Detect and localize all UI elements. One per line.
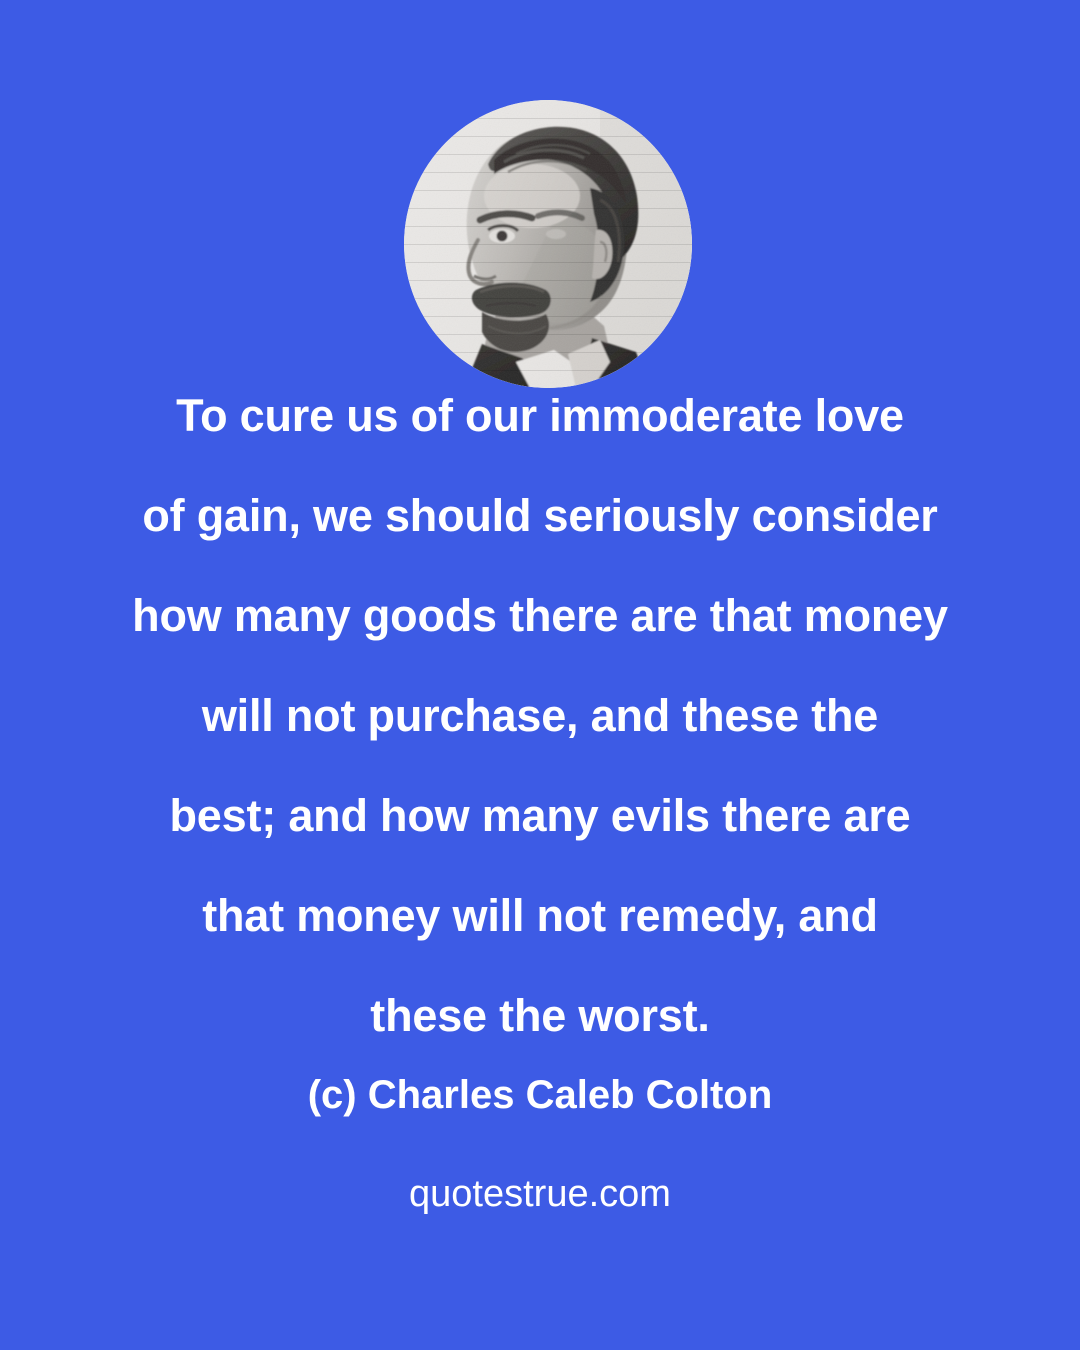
quote-card: To cure us of our immoderate love of gai…: [0, 0, 1080, 1350]
quote-line: that money will not remedy, and: [90, 866, 990, 966]
quote-line: of gain, we should seriously consider: [90, 466, 990, 566]
quote-line: To cure us of our immoderate love: [90, 366, 990, 466]
portrait-photo-icon: [404, 100, 692, 388]
quote-line: these the worst.: [90, 966, 990, 1066]
quote-line: best; and how many evils there are: [90, 766, 990, 866]
quote-line: will not purchase, and these the: [90, 666, 990, 766]
quote-attribution: (c) Charles Caleb Colton: [0, 1068, 1080, 1122]
site-watermark: quotestrue.com: [0, 1168, 1080, 1220]
quote-line: how many goods there are that money: [90, 566, 990, 666]
author-portrait: [404, 100, 692, 388]
quote-text: To cure us of our immoderate love of gai…: [90, 366, 990, 1066]
